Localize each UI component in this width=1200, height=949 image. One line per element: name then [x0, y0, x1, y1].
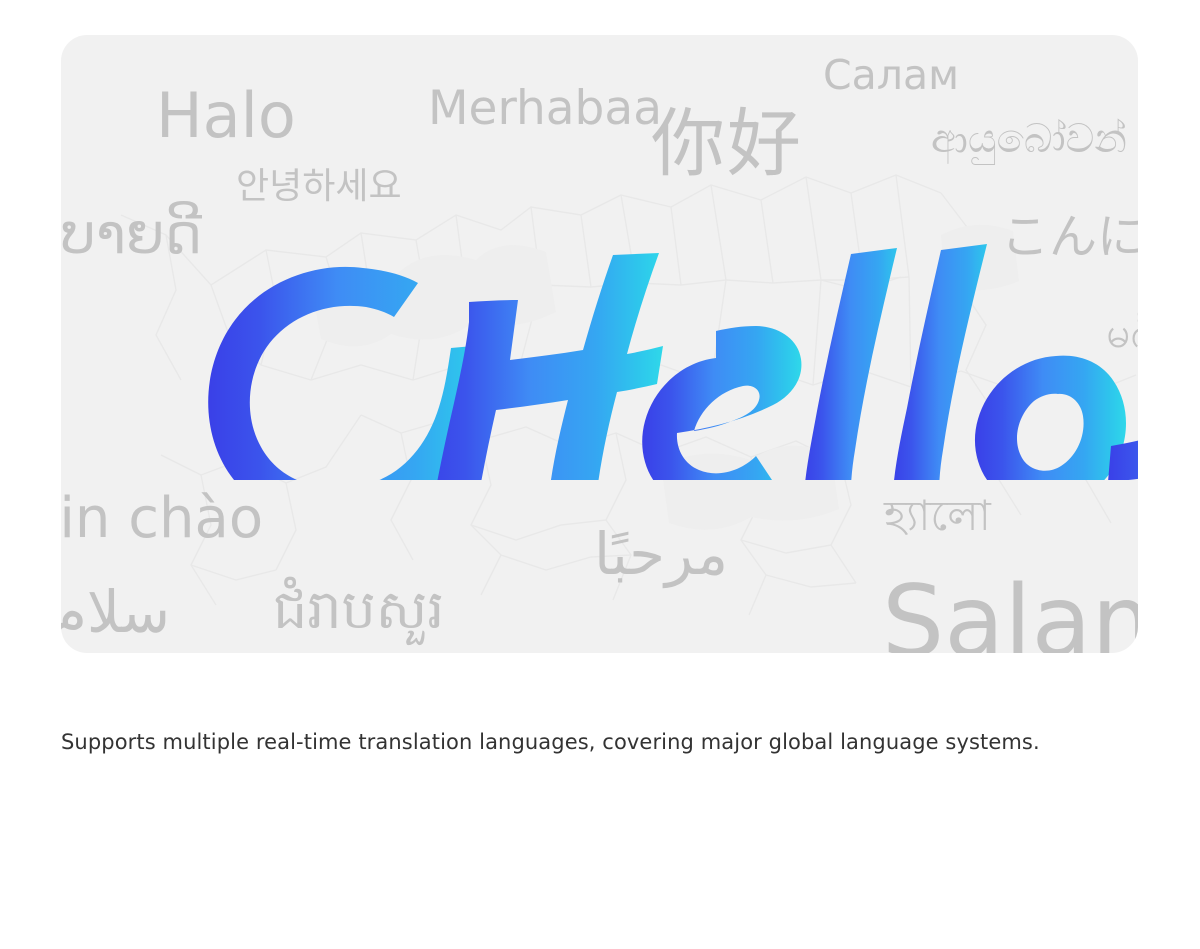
greeting-indonesian: Halo [156, 85, 296, 147]
feature-caption: Supports multiple real-time translation … [61, 727, 1141, 757]
greeting-chinese: 你好 [651, 107, 803, 181]
greeting-arabic: مرحبًا [594, 525, 728, 583]
greeting-turkish: Merhabaa [428, 85, 662, 132]
greeting-burmese: မင်္ဂလာပါ [1106, 312, 1138, 354]
world-map-backdrop [61, 35, 1138, 653]
greeting-korean: 안녕하세요 [236, 169, 402, 205]
greeting-japanese: こんにちは [1001, 213, 1138, 261]
translation-languages-feature-block: Halo Merhabaa Салам 你好 ආයුබෝවන් 안녕하세요 こん… [0, 0, 1200, 949]
hello-wordmark [151, 210, 1138, 480]
greeting-kyrgyz: Салам [823, 55, 959, 96]
greeting-malay: Salam [882, 573, 1138, 653]
multilingual-greetings-layer: Halo Merhabaa Салам 你好 ආයුබෝවන් 안녕하세요 こん… [61, 35, 1138, 653]
greeting-vietnamese: Xin chào [61, 491, 263, 547]
hero-image-card: Halo Merhabaa Салам 你好 ආයුබෝවන් 안녕하세요 こん… [61, 35, 1138, 653]
greeting-urdu: سلام [61, 583, 170, 641]
greeting-khmer: ជំរាបសួរ [273, 583, 444, 637]
greeting-lao: ສະບາຍດີ [61, 207, 202, 263]
greeting-sinhala: ආයුබෝවන් [931, 119, 1127, 159]
greeting-bengali: হ্যালো [884, 495, 991, 537]
